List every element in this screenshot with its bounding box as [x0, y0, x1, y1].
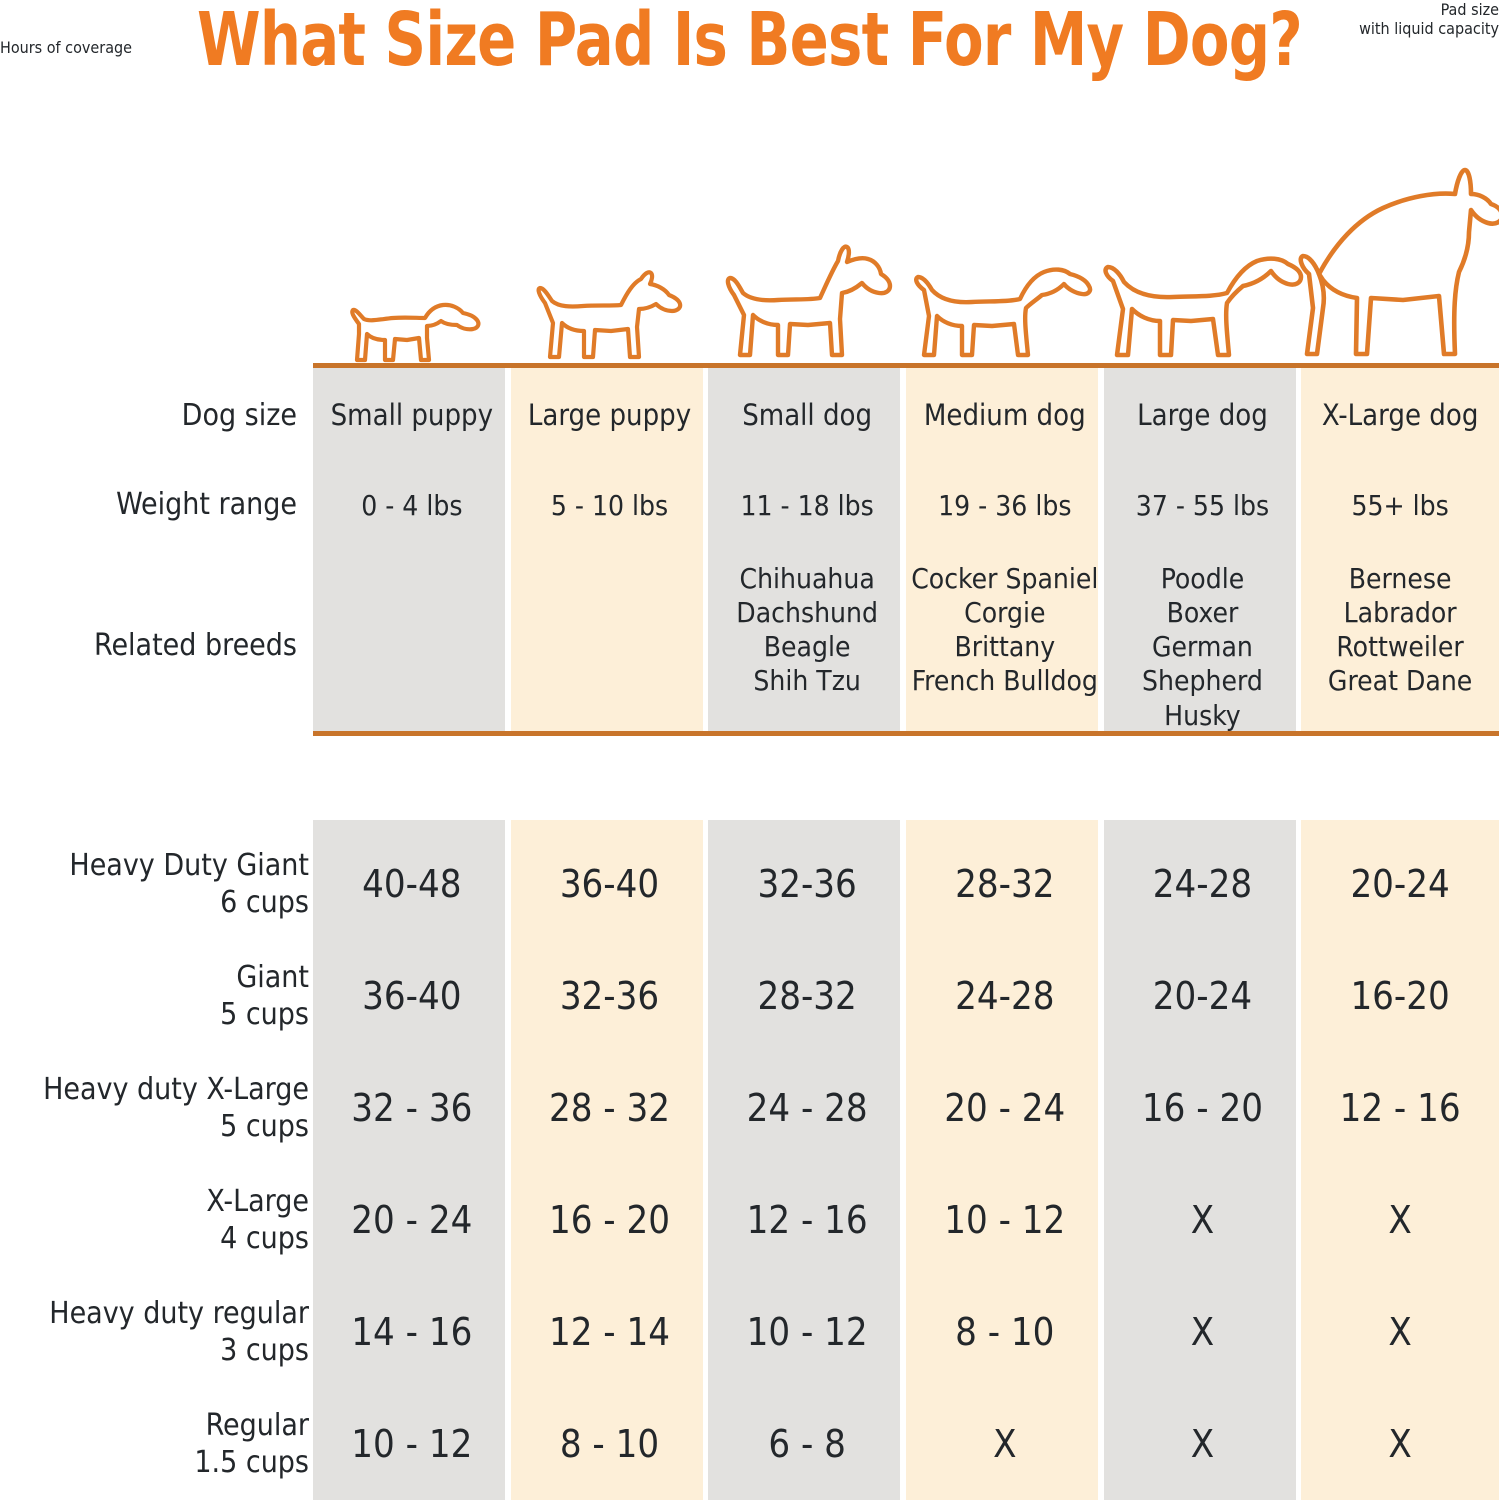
- pad-row-name-1: Giant: [220, 960, 309, 997]
- pad-cell-2-0: 32 - 36: [313, 1086, 511, 1130]
- breed-item: Boxer: [1104, 596, 1302, 630]
- breed-item: Chihuahua: [708, 562, 906, 596]
- pad-row-capacity-0: 6 cups: [69, 885, 309, 922]
- pad-cell-5-0: 10 - 12: [313, 1422, 511, 1466]
- cell-dog-size-1: Large puppy: [511, 398, 709, 433]
- dog-small-puppy-icon: [313, 278, 511, 368]
- breed-item: Rottweiler: [1301, 630, 1499, 664]
- pad-cell-5-5: X: [1301, 1422, 1499, 1466]
- column-bg-b-large-puppy: [511, 820, 703, 1500]
- cell-breeds-4: PoodleBoxerGermanShepherdHusky: [1104, 562, 1302, 733]
- breed-item: Beagle: [708, 630, 906, 664]
- pad-row-label-3: X-Large 4 cups: [206, 1184, 309, 1257]
- pad-row-capacity-4: 3 cups: [49, 1333, 309, 1370]
- pad-cell-1-3: 24-28: [906, 974, 1104, 1018]
- pad-cell-3-2: 12 - 16: [708, 1198, 906, 1242]
- pad-row-capacity-5: 1.5 cups: [194, 1445, 309, 1482]
- pad-cell-2-5: 12 - 16: [1301, 1086, 1499, 1130]
- pad-row-capacity-1: 5 cups: [220, 997, 309, 1034]
- breed-item: Labrador: [1301, 596, 1499, 630]
- breed-item: Poodle: [1104, 562, 1302, 596]
- pad-cell-4-0: 14 - 16: [313, 1310, 511, 1354]
- pad-size-table: [0, 820, 1499, 1500]
- pad-cell-3-5: X: [1301, 1198, 1499, 1242]
- column-bg-b-small-dog: [708, 820, 900, 1500]
- dog-large-icon: [1104, 233, 1302, 368]
- breed-item: Bernese: [1301, 562, 1499, 596]
- column-bg-b-small-puppy: [313, 820, 505, 1500]
- pad-row-3: 20 - 24 16 - 20 12 - 16 10 - 12 X X: [313, 1198, 1499, 1242]
- pad-cell-5-1: 8 - 10: [511, 1422, 709, 1466]
- page-title: What Size Pad Is Best For My Dog?: [165, 2, 1334, 80]
- pad-cell-3-0: 20 - 24: [313, 1198, 511, 1242]
- pad-cell-4-1: 12 - 14: [511, 1310, 709, 1354]
- pad-row-capacity-3: 4 cups: [206, 1221, 309, 1258]
- divider-top: [313, 363, 1499, 368]
- pad-row-label-4: Heavy duty regular 3 cups: [49, 1296, 309, 1369]
- pad-cell-5-4: X: [1104, 1422, 1302, 1466]
- pad-cell-4-2: 10 - 12: [708, 1310, 906, 1354]
- cell-dog-size-0: Small puppy: [313, 398, 511, 433]
- pad-cell-1-1: 32-36: [511, 974, 709, 1018]
- pad-row-label-1: Giant 5 cups: [220, 960, 309, 1033]
- dog-medium-icon: [906, 248, 1104, 368]
- row-label-dog-size: Dog size: [0, 398, 297, 435]
- cell-dog-size-3: Medium dog: [906, 398, 1104, 433]
- row-label-weight-range: Weight range: [0, 487, 297, 524]
- breed-item: Shepherd: [1104, 664, 1302, 698]
- breed-item: Husky: [1104, 699, 1302, 733]
- cell-dog-size-4: Large dog: [1104, 398, 1302, 433]
- pad-row-2: 32 - 36 28 - 32 24 - 28 20 - 24 16 - 20 …: [313, 1086, 1499, 1130]
- dog-large-puppy-icon: [511, 263, 709, 368]
- breed-item: Dachshund: [708, 596, 906, 630]
- pad-row-0: 40-48 36-40 32-36 28-32 24-28 20-24: [313, 862, 1499, 906]
- row-related-breeds: ChihuahuaDachshundBeagleShih Tzu Cocker …: [313, 562, 1499, 733]
- pad-cell-0-5: 20-24: [1301, 862, 1499, 906]
- cell-weight-5: 55+ lbs: [1301, 489, 1499, 523]
- breed-item: Brittany: [906, 630, 1104, 664]
- dog-xlarge-icon: [1301, 168, 1499, 368]
- pad-cell-4-3: 8 - 10: [906, 1310, 1104, 1354]
- pad-cell-3-4: X: [1104, 1198, 1302, 1242]
- cell-weight-4: 37 - 55 lbs: [1104, 489, 1302, 523]
- column-stripes-bottom: [313, 820, 1499, 1500]
- pad-cell-2-2: 24 - 28: [708, 1086, 906, 1130]
- pad-row-capacity-2: 5 cups: [43, 1109, 309, 1146]
- pad-cell-2-1: 28 - 32: [511, 1086, 709, 1130]
- pad-row-5: 10 - 12 8 - 10 6 - 8 X X X: [313, 1422, 1499, 1466]
- breed-item: German: [1104, 630, 1302, 664]
- row-weight-range: 0 - 4 lbs 5 - 10 lbs 11 - 18 lbs 19 - 36…: [313, 489, 1499, 523]
- pad-row-4: 14 - 16 12 - 14 10 - 12 8 - 10 X X: [313, 1310, 1499, 1354]
- cell-breeds-2: ChihuahuaDachshundBeagleShih Tzu: [708, 562, 906, 699]
- cell-weight-0: 0 - 4 lbs: [313, 489, 511, 523]
- cell-breeds-5: BerneseLabradorRottweilerGreat Dane: [1301, 562, 1499, 699]
- cell-dog-size-2: Small dog: [708, 398, 906, 433]
- pad-cell-1-5: 16-20: [1301, 974, 1499, 1018]
- pad-cell-4-5: X: [1301, 1310, 1499, 1354]
- cell-weight-3: 19 - 36 lbs: [906, 489, 1104, 523]
- pad-row-name-4: Heavy duty regular: [49, 1296, 309, 1333]
- pad-cell-2-4: 16 - 20: [1104, 1086, 1302, 1130]
- breed-item: Corgie: [906, 596, 1104, 630]
- column-bg-b-xlarge-dog: [1301, 820, 1499, 1500]
- breed-item: Great Dane: [1301, 664, 1499, 698]
- pad-row-label-0: Heavy Duty Giant 6 cups: [69, 848, 309, 921]
- pad-cell-1-0: 36-40: [313, 974, 511, 1018]
- pad-cell-5-3: X: [906, 1422, 1104, 1466]
- pad-cell-3-3: 10 - 12: [906, 1198, 1104, 1242]
- breed-item: Shih Tzu: [708, 664, 906, 698]
- pad-cell-0-2: 32-36: [708, 862, 906, 906]
- column-bg-b-large-dog: [1104, 820, 1296, 1500]
- pad-row-name-2: Heavy duty X-Large: [43, 1072, 309, 1109]
- pad-row-label-5: Regular 1.5 cups: [194, 1408, 309, 1481]
- column-bg-b-medium-dog: [906, 820, 1098, 1500]
- breed-item: French Bulldog: [906, 664, 1104, 698]
- cell-weight-2: 11 - 18 lbs: [708, 489, 906, 523]
- pad-cell-0-0: 40-48: [313, 862, 511, 906]
- pad-cell-0-3: 28-32: [906, 862, 1104, 906]
- row-label-related-breeds: Related breeds: [0, 628, 297, 665]
- pad-row-label-2: Heavy duty X-Large 5 cups: [43, 1072, 309, 1145]
- pad-cell-0-4: 24-28: [1104, 862, 1302, 906]
- pad-row-name-0: Heavy Duty Giant: [69, 848, 309, 885]
- dog-silhouette-row: [313, 150, 1499, 368]
- breed-item: Cocker Spaniel: [906, 562, 1104, 596]
- pad-row-name-5: Regular: [194, 1408, 309, 1445]
- dog-small-icon: [708, 243, 906, 368]
- pad-cell-3-1: 16 - 20: [511, 1198, 709, 1242]
- pad-cell-1-2: 28-32: [708, 974, 906, 1018]
- pad-cell-5-2: 6 - 8: [708, 1422, 906, 1466]
- cell-breeds-3: Cocker SpanielCorgieBrittanyFrench Bulld…: [906, 562, 1104, 699]
- pad-cell-2-3: 20 - 24: [906, 1086, 1104, 1130]
- cell-weight-1: 5 - 10 lbs: [511, 489, 709, 523]
- pad-cell-4-4: X: [1104, 1310, 1302, 1354]
- pad-cell-1-4: 20-24: [1104, 974, 1302, 1018]
- pad-row-name-3: X-Large: [206, 1184, 309, 1221]
- pad-cell-0-1: 36-40: [511, 862, 709, 906]
- cell-dog-size-5: X-Large dog: [1301, 398, 1499, 433]
- pad-row-1: 36-40 32-36 28-32 24-28 20-24 16-20: [313, 974, 1499, 1018]
- row-dog-size: Small puppy Large puppy Small dog Medium…: [313, 398, 1499, 433]
